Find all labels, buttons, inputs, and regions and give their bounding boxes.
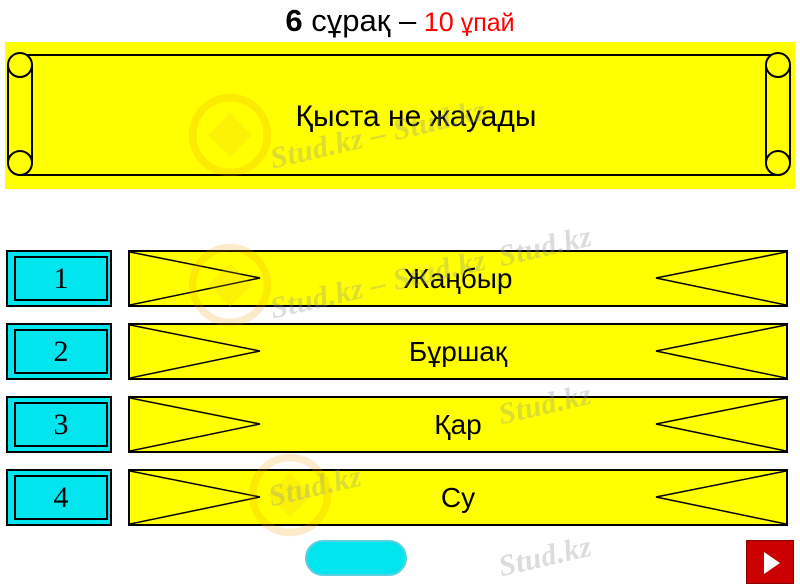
- answer-number-inner-frame: 1: [14, 256, 108, 301]
- question-banner: Қыста не жауады: [5, 42, 795, 189]
- answer-number-label: 4: [16, 477, 106, 518]
- scroll-spine-right: [765, 64, 791, 164]
- answer-option-label: Қар: [130, 398, 786, 451]
- scroll-curl-bottom-left-icon: [7, 150, 33, 176]
- answer-number-label: 2: [16, 331, 106, 372]
- title-dash-text: –: [399, 3, 416, 38]
- points-spacer: [416, 7, 424, 37]
- answer-row[interactable]: 3 Қар: [0, 396, 800, 453]
- points-word: ұпай: [461, 9, 515, 37]
- answer-option[interactable]: Жаңбыр: [128, 250, 788, 307]
- answer-number-badge[interactable]: 2: [6, 323, 112, 380]
- points-number: 10: [424, 7, 454, 37]
- answer-row[interactable]: 4 Су: [0, 469, 800, 526]
- answer-number-label: 3: [16, 404, 106, 445]
- answer-number-inner-frame: 2: [14, 329, 108, 374]
- question-text: Қыста не жауады: [51, 56, 781, 178]
- answer-number-badge[interactable]: 3: [6, 396, 112, 453]
- answer-row[interactable]: 2 Бұршақ: [0, 323, 800, 380]
- answer-option-label: Су: [130, 471, 786, 524]
- answer-number-label: 1: [16, 258, 106, 299]
- question-word: [303, 3, 312, 38]
- scroll-spine-left: [7, 64, 33, 164]
- question-number: 6: [285, 3, 302, 38]
- answer-number-inner-frame: 3: [14, 402, 108, 447]
- play-triangle-icon: [764, 552, 780, 574]
- answer-list: 1 Жаңбыр 2 Бұршақ 3: [0, 250, 800, 542]
- answer-number-badge[interactable]: 1: [6, 250, 112, 307]
- question-banner-frame: Қыста не жауады: [19, 54, 777, 176]
- answer-option-label: Бұршақ: [130, 325, 786, 378]
- answer-number-badge[interactable]: 4: [6, 469, 112, 526]
- answer-option[interactable]: Қар: [128, 396, 788, 453]
- scroll-curl-top-left-icon: [7, 52, 33, 78]
- question-word-text: сұрақ: [311, 3, 390, 38]
- scroll-curl-top-right-icon: [765, 52, 791, 78]
- answer-number-inner-frame: 4: [14, 475, 108, 520]
- answer-option[interactable]: Бұршақ: [128, 323, 788, 380]
- page-header: 6 сұрақ – 10 ұпай: [0, 0, 800, 44]
- scroll-curl-bottom-right-icon: [765, 150, 791, 176]
- points-spacer-2: [454, 9, 461, 37]
- next-slide-button[interactable]: [746, 540, 794, 584]
- answer-reveal-button[interactable]: [305, 540, 407, 576]
- answer-row[interactable]: 1 Жаңбыр: [0, 250, 800, 307]
- answer-option[interactable]: Су: [128, 469, 788, 526]
- page-title: 6 сұрақ – 10 ұпай: [285, 0, 514, 48]
- title-dash: [390, 3, 399, 38]
- answer-option-label: Жаңбыр: [130, 252, 786, 305]
